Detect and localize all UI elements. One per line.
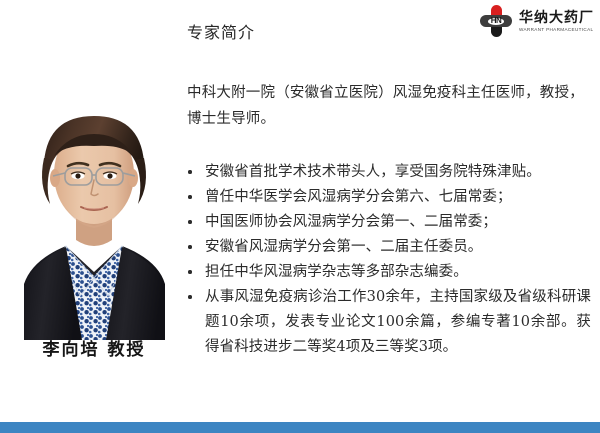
company-logo: HN 华纳大药厂 WARRANT PHARMACEUTICAL <box>478 4 594 38</box>
logo-name-en: WARRANT PHARMACEUTICAL <box>519 26 596 33</box>
list-item-text: 安徽省首批学术技术带头人，享受国务院特殊津贴。 <box>205 164 541 180</box>
logo-mark-icon: HN <box>478 4 514 38</box>
list-item: 从事风湿免疫病诊治工作30余年，主持国家级及省级科研课题10余项，发表专业论文1… <box>187 285 591 360</box>
list-item: 安徽省首批学术技术带头人，享受国务院特殊津贴。 <box>187 160 591 185</box>
portrait-block: 李向培 教授 <box>8 100 180 385</box>
logo-wordmark: 华纳大药厂 WARRANT PHARMACEUTICAL <box>519 10 594 33</box>
page-title: 专家简介 <box>187 22 255 44</box>
logo-monogram-text: HN <box>487 16 505 26</box>
list-item-text: 担任中华风湿病学杂志等多部杂志编委。 <box>205 264 468 280</box>
slide-canvas: HN 华纳大药厂 WARRANT PHARMACEUTICAL 专家简介 <box>0 0 600 433</box>
list-item: 安徽省风湿病学分会第一、二届主任委员。 <box>187 235 591 260</box>
portrait-caption: 李向培 教授 <box>8 338 180 362</box>
bullet-dot-icon <box>188 195 192 199</box>
list-item-text: 安徽省风湿病学分会第一、二届主任委员。 <box>205 239 482 255</box>
bullet-dot-icon <box>188 170 192 174</box>
bullet-dot-icon <box>188 245 192 249</box>
list-item: 中国医师协会风湿病学分会第一、二届常委； <box>187 210 591 235</box>
intro-paragraph: 中科大附一院（安徽省立医院）风湿免疫科主任医师，教授，博士生导师。 <box>187 80 587 132</box>
bullet-dot-icon <box>188 295 192 299</box>
list-item-text: 从事风湿免疫病诊治工作30余年，主持国家级及省级科研课题10余项，发表专业论文1… <box>205 289 591 355</box>
credentials-list: 安徽省首批学术技术带头人，享受国务院特殊津贴。 曾任中华医学会风湿病学分会第六、… <box>187 160 591 360</box>
footer-accent-bar <box>0 422 600 433</box>
portrait-photo <box>8 100 180 340</box>
list-item: 曾任中华医学会风湿病学分会第六、七届常委； <box>187 185 591 210</box>
list-item-text: 中国医师协会风湿病学分会第一、二届常委； <box>205 214 497 230</box>
list-item: 担任中华风湿病学杂志等多部杂志编委。 <box>187 260 591 285</box>
bullet-dot-icon <box>188 270 192 274</box>
list-item-text: 曾任中华医学会风湿病学分会第六、七届常委； <box>205 189 512 205</box>
logo-name-cn: 华纳大药厂 <box>519 10 594 26</box>
bullet-dot-icon <box>188 220 192 224</box>
